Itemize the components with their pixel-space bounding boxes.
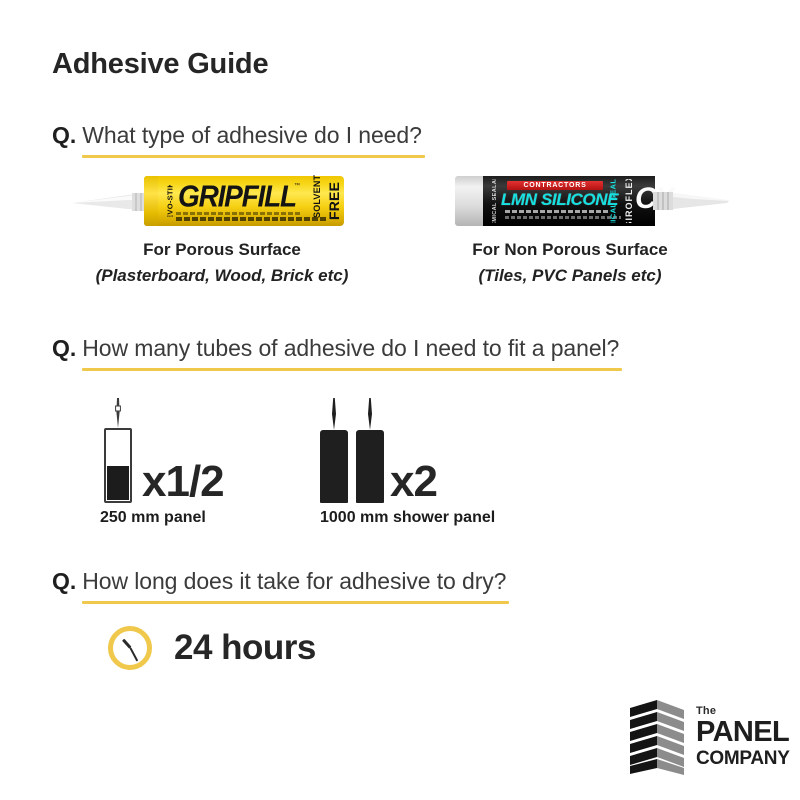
the-panel-company-logo: The PANEL COMPANY [628,698,790,776]
nozzle-icon [329,398,339,430]
label-side-text: CHEMICAL SEALANTS [489,179,501,223]
adhesive-tube-icon [356,398,384,503]
quantity-multiplier: x1/2 [142,461,224,503]
question-1-text: What type of adhesive do I need? [82,122,421,148]
variant-text: CHEMICAL SEALANTS [607,179,619,223]
question-2-underline [82,368,622,371]
nozzle-icon [653,192,729,210]
quantity-caption: 1000 mm shower panel [320,509,495,527]
label-fine-print [176,217,326,221]
evo-stik-brand: EVO-STIK [164,185,175,217]
nozzle-icon [365,398,375,430]
adhesive-guide-infographic: Adhesive Guide Q. What type of adhesive … [0,0,800,800]
adhesive-tube-icon [320,398,348,503]
solvent-free-claim: SOLVENT FREE [302,180,342,220]
caption-main: For Porous Surface [52,240,392,260]
question-marker: Q. [52,568,76,595]
product-name: LMN SILICONE [501,191,618,209]
tube-body [320,430,348,503]
drying-time-answer: 24 hours [108,626,316,670]
tube-label: CHEMICAL SEALANTS CONTRACTORS LMN SILICO… [483,176,655,226]
question-marker: Q. [52,122,76,149]
question-marker: Q. [52,335,76,362]
porous-surface-caption: For Porous Surface (Plasterboard, Wood, … [52,240,392,286]
question-1: Q. What type of adhesive do I need? [52,122,422,149]
caption-sub: (Plasterboard, Wood, Brick etc) [52,266,392,286]
tube-cap [144,176,158,226]
label-fine-print [505,216,621,219]
question-2: Q. How many tubes of adhesive do I need … [52,335,619,362]
two-adhesive-tubes-icon [320,398,384,503]
trademark-symbol: ™ [294,183,300,189]
drying-time-value: 24 hours [174,628,316,668]
tube-body: CHEMICAL SEALANTS CONTRACTORS LMN SILICO… [455,176,655,226]
caption-sub: (Tiles, PVC Panels etc) [400,266,740,286]
label-fine-print [505,210,609,213]
panel-stack-logo-icon [628,698,686,776]
contractors-banner: CONTRACTORS [507,181,603,190]
two-tubes-quantity: x2 1000 mm shower panel [320,398,495,527]
logo-panel: PANEL [696,718,790,747]
page-title: Adhesive Guide [52,48,268,81]
nozzle-icon [72,192,154,212]
question-3-underline [82,601,509,604]
tube-body [356,430,384,503]
question-2-text: How many tubes of adhesive do I need to … [82,335,619,361]
half-tube-quantity: x1/2 250 mm panel [100,398,224,527]
quantity-caption: 250 mm panel [100,509,224,527]
quantity-multiplier: x2 [390,461,437,503]
question-1-underline [82,155,424,158]
siroflex-brand: SIROFLEX [623,179,635,223]
label-fine-print [176,212,300,215]
logo-company: COMPANY [696,749,790,768]
nozzle-icon [113,398,123,428]
gripfill-adhesive-tube-icon: EVO-STIK GRIPFILL ™ SOLVENT FREE [72,176,344,230]
caption-main: For Non Porous Surface [400,240,740,260]
non-porous-surface-caption: For Non Porous Surface (Tiles, PVC Panel… [400,240,740,286]
lmn-silicone-tube-icon: CHEMICAL SEALANTS CONTRACTORS LMN SILICO… [455,176,727,230]
tube-body: EVO-STIK GRIPFILL ™ SOLVENT FREE [144,176,344,226]
tube-fill-level [107,466,129,500]
question-3: Q. How long does it take for adhesive to… [52,568,506,595]
product-name: GRIPFILL [178,181,296,213]
clock-icon [108,626,152,670]
half-full-adhesive-tube-icon [100,398,136,503]
question-3-text: How long does it take for adhesive to dr… [82,568,506,594]
